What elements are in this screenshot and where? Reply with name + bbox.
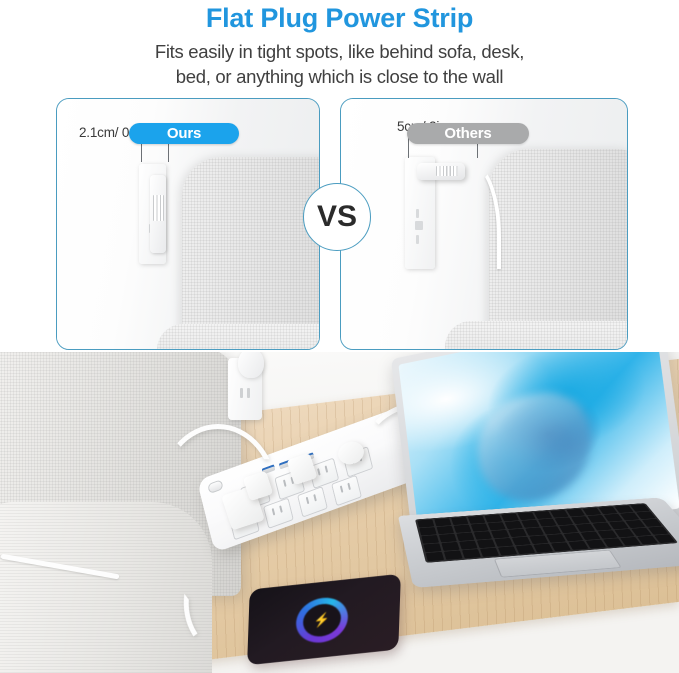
sofa-backrest <box>489 149 628 350</box>
header: Flat Plug Power Strip Fits easily in tig… <box>0 0 679 94</box>
comparison-panel-others: 5cm/ 2in Others <box>340 98 628 350</box>
charging-bolt-icon: ⚡ <box>314 611 331 629</box>
comparison-panel-ours: 2.1cm/ 0.8in Ours <box>56 98 320 350</box>
wall-plug-adapter <box>238 352 264 378</box>
measurement-bracket-ours <box>141 141 169 162</box>
page-title: Flat Plug Power Strip <box>0 0 679 34</box>
sofa-seat <box>157 324 320 350</box>
outlet-slot <box>247 388 250 398</box>
smartphone: ⚡ <box>247 574 401 666</box>
subtitle-line-1: Fits easily in tight spots, like behind … <box>0 34 679 64</box>
outlet-slot <box>240 388 243 398</box>
outlet-slot <box>416 209 419 218</box>
bulky-plug-ridges <box>436 166 458 176</box>
outlet-slot <box>415 221 423 230</box>
badge-others: Others <box>407 123 529 144</box>
laptop <box>398 356 679 616</box>
subtitle-line-2: bed, or anything which is close to the w… <box>0 64 679 89</box>
flat-plug-cable-ridges <box>153 195 164 221</box>
badge-ours: Ours <box>129 123 239 144</box>
photo-sofa-arm <box>0 502 212 673</box>
charging-animation-ring: ⚡ <box>295 595 348 645</box>
vs-badge: VS <box>303 183 371 251</box>
outlet-slot <box>416 235 419 244</box>
comparison-section: 2.1cm/ 0.8in Ours 5cm/ 2in Others VS <box>0 96 679 352</box>
charging-ring-inner: ⚡ <box>303 602 342 638</box>
sofa-seat <box>445 321 628 350</box>
lifestyle-photo: ⚡ <box>0 352 679 673</box>
sofa-backrest <box>182 157 320 350</box>
